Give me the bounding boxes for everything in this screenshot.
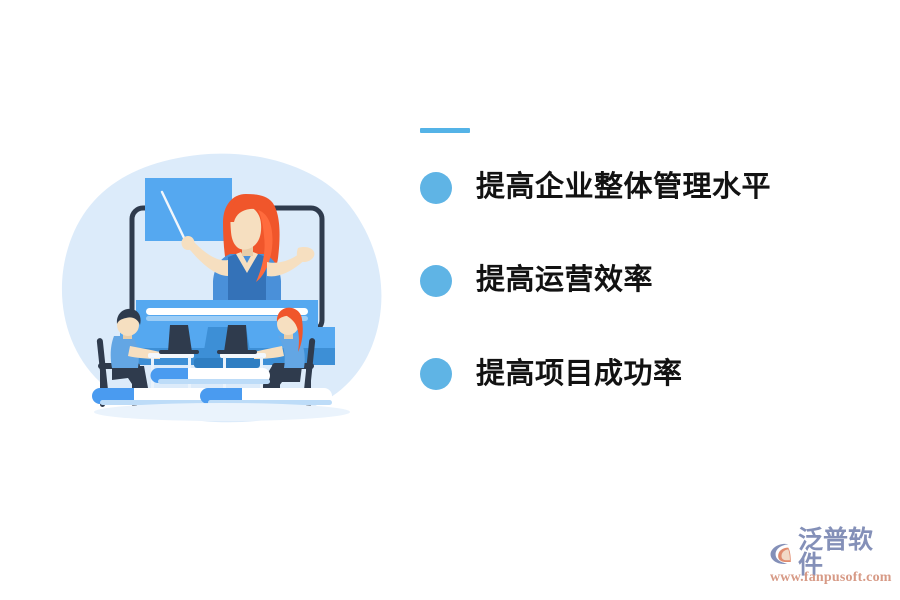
fanpu-logo-icon <box>768 540 795 567</box>
bullet-list: 提高企业整体管理水平 提高运营效率 提高项目成功率 <box>420 171 850 391</box>
floor-shadow <box>94 403 350 421</box>
bullet-dot-icon <box>420 265 452 297</box>
bullet-dot-icon <box>420 358 452 390</box>
bullet-item-3: 提高项目成功率 <box>420 358 850 391</box>
bullet-item-2: 提高运营效率 <box>420 264 850 297</box>
bullet-label-1: 提高企业整体管理水平 <box>476 171 771 204</box>
monitor-stand-base <box>194 358 260 368</box>
slide-canvas: 提高企业整体管理水平 提高运营效率 提高项目成功率 泛普软件 <box>0 0 900 600</box>
student-left-laptop-base <box>159 350 199 354</box>
presentation-board-overlay <box>145 178 232 241</box>
brand-watermark: 泛普软件 www.fanpusoft.com <box>768 538 894 586</box>
bullet-label-2: 提高运营效率 <box>476 264 653 297</box>
brand-lockup: 泛普软件 <box>768 538 894 568</box>
book-stack-mid-left <box>92 388 218 405</box>
accent-rule <box>420 128 470 133</box>
bullet-item-1: 提高企业整体管理水平 <box>420 171 850 204</box>
student-right-laptop-base <box>217 350 257 354</box>
bullet-dot-icon <box>420 172 452 204</box>
content-panel: 提高企业整体管理水平 提高运营效率 提高项目成功率 <box>420 128 850 391</box>
student-left-laptop-screen <box>168 325 192 352</box>
book-stack-mid-right <box>200 388 332 405</box>
teacher-left-hand <box>182 236 195 250</box>
book-stack-upper <box>151 368 271 384</box>
online-training-illustration <box>60 150 390 425</box>
bullet-label-3: 提高项目成功率 <box>476 358 683 391</box>
student-right-laptop-screen <box>224 325 248 352</box>
brand-url: www.fanpusoft.com <box>770 570 892 586</box>
